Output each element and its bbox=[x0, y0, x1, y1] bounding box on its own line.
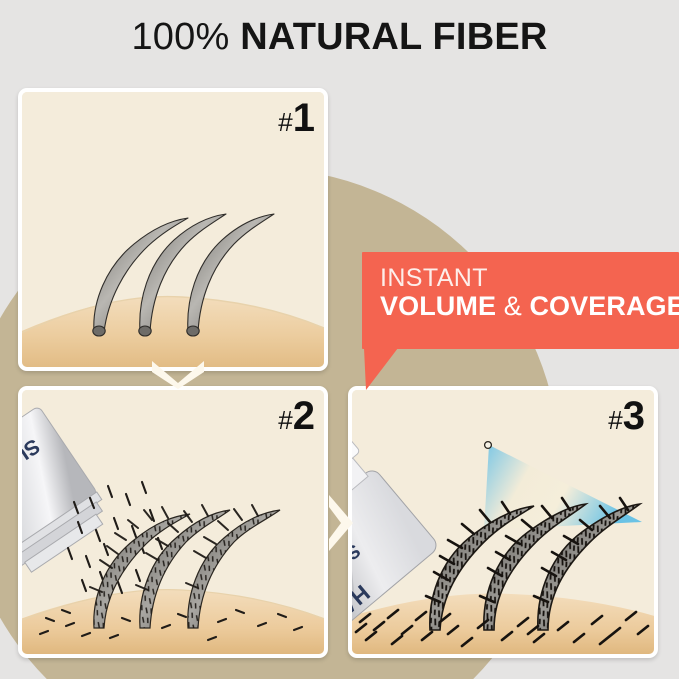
step-number: 3 bbox=[623, 394, 644, 438]
step-panel-2: SUPER MILLION bbox=[18, 386, 328, 658]
spray-nozzle-icon bbox=[485, 442, 492, 449]
hash-symbol: # bbox=[608, 405, 622, 435]
step-number: 2 bbox=[293, 394, 314, 438]
hash-symbol: # bbox=[278, 107, 292, 137]
banner-line-1: INSTANT bbox=[380, 265, 679, 291]
banner-tail bbox=[364, 348, 398, 390]
chevron-right-icon bbox=[325, 492, 355, 554]
step-number-badge-1: #1 bbox=[278, 98, 314, 138]
step-number-badge-2: #2 bbox=[278, 396, 314, 436]
step-panel-1: #1 bbox=[18, 88, 328, 371]
banner-ampersand: & bbox=[504, 291, 522, 321]
step-panel-3: SUPER HAIR bbox=[348, 386, 658, 658]
banner-coverage-text: COVERAGE bbox=[529, 291, 679, 321]
promo-banner: INSTANT VOLUME & COVERAGE bbox=[362, 252, 679, 349]
step-number: 1 bbox=[293, 96, 314, 140]
title-main: NATURAL FIBER bbox=[240, 16, 547, 58]
banner-volume-text: VOLUME bbox=[380, 291, 496, 321]
infographic-stage: 100% NATURAL FIBER bbox=[0, 0, 679, 679]
step-number-badge-3: #3 bbox=[608, 396, 644, 436]
chevron-down-icon bbox=[148, 357, 208, 389]
title-percent: 100% bbox=[131, 16, 229, 58]
page-title: 100% NATURAL FIBER bbox=[0, 16, 679, 59]
banner-line-2: VOLUME & COVERAGE bbox=[380, 291, 679, 321]
page-title-wrapper: 100% NATURAL FIBER bbox=[0, 16, 679, 59]
hash-symbol: # bbox=[278, 405, 292, 435]
